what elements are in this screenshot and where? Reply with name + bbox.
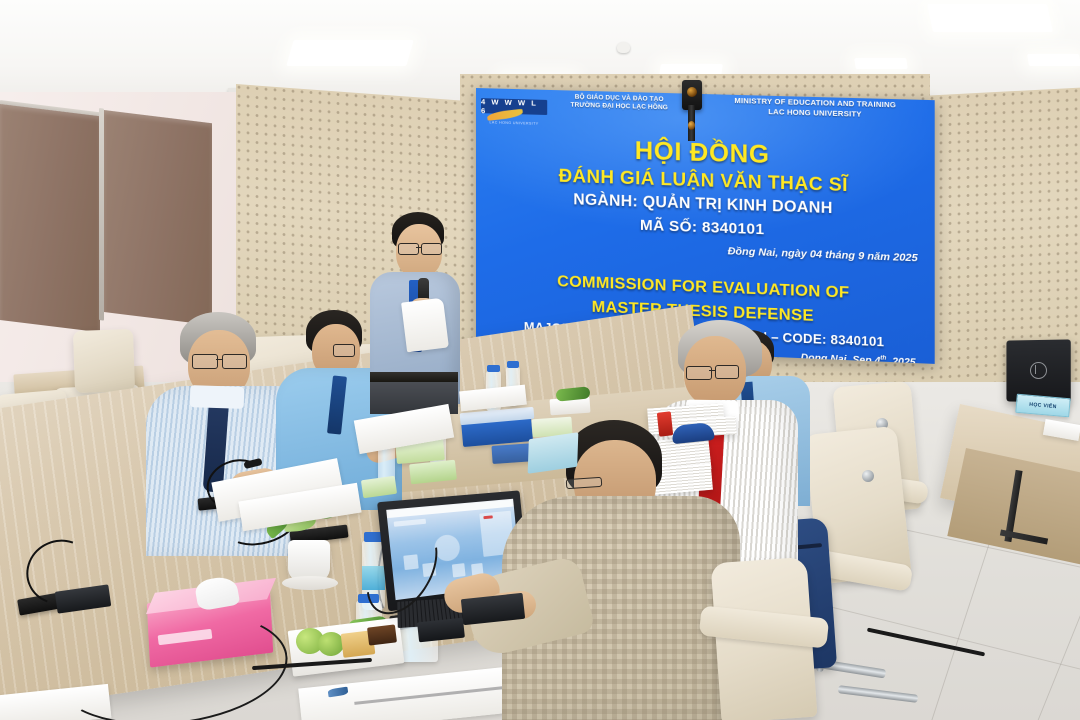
shirt-collar xyxy=(190,385,245,409)
dell-logo-letter xyxy=(1035,365,1041,374)
conference-room-photo: 4 W W W L 6 LAC HONG UNIVERSITY BỘ GIÁO … xyxy=(0,0,1080,720)
glasses-bridge xyxy=(709,370,716,371)
student-nameplate-label: HỌC VIÊN xyxy=(1029,401,1057,409)
camera-led-icon xyxy=(688,121,695,130)
glasses-icon-2 xyxy=(421,243,442,255)
glasses-icon xyxy=(398,243,419,255)
glasses-icon xyxy=(192,354,218,369)
chair-pivot-knob xyxy=(862,470,874,482)
ceiling-light-1 xyxy=(286,40,413,66)
glasses-bridge xyxy=(216,359,223,360)
glasses-icon xyxy=(686,366,712,380)
glasses-icon xyxy=(333,344,355,357)
bottle-cap xyxy=(487,365,500,372)
bottle-cap xyxy=(507,361,519,368)
glasses-icon-2 xyxy=(222,354,247,369)
camera-lens-icon xyxy=(687,87,697,97)
chair-back-left-3 xyxy=(73,329,135,393)
tablet-stand xyxy=(528,432,579,473)
ceiling-light-5 xyxy=(854,58,908,69)
blind-divider xyxy=(99,108,104,321)
window-blind-left xyxy=(0,104,100,332)
window-blind-right xyxy=(104,110,212,325)
screen-tile-3 xyxy=(452,563,466,577)
smoke-detector xyxy=(617,42,630,53)
ceiling-light-6 xyxy=(1027,54,1080,66)
presenter-papers xyxy=(401,298,449,353)
plant-saucer xyxy=(282,576,338,590)
logo-caption: LAC HONG UNIVERSITY xyxy=(481,120,547,126)
ceiling-light-2 xyxy=(927,4,1053,32)
red-stapler xyxy=(657,411,673,436)
camera-pole xyxy=(688,105,695,141)
glasses-bridge xyxy=(416,247,422,248)
snack-chocolate xyxy=(367,624,397,645)
slide-date-vn: Đồng Nai, ngày 04 tháng 9 năm 2025 xyxy=(728,245,918,264)
slide-header-english: MINISTRY OF EDUCATION AND TRAINING LAC H… xyxy=(711,95,920,120)
glasses-icon-2 xyxy=(715,365,739,379)
